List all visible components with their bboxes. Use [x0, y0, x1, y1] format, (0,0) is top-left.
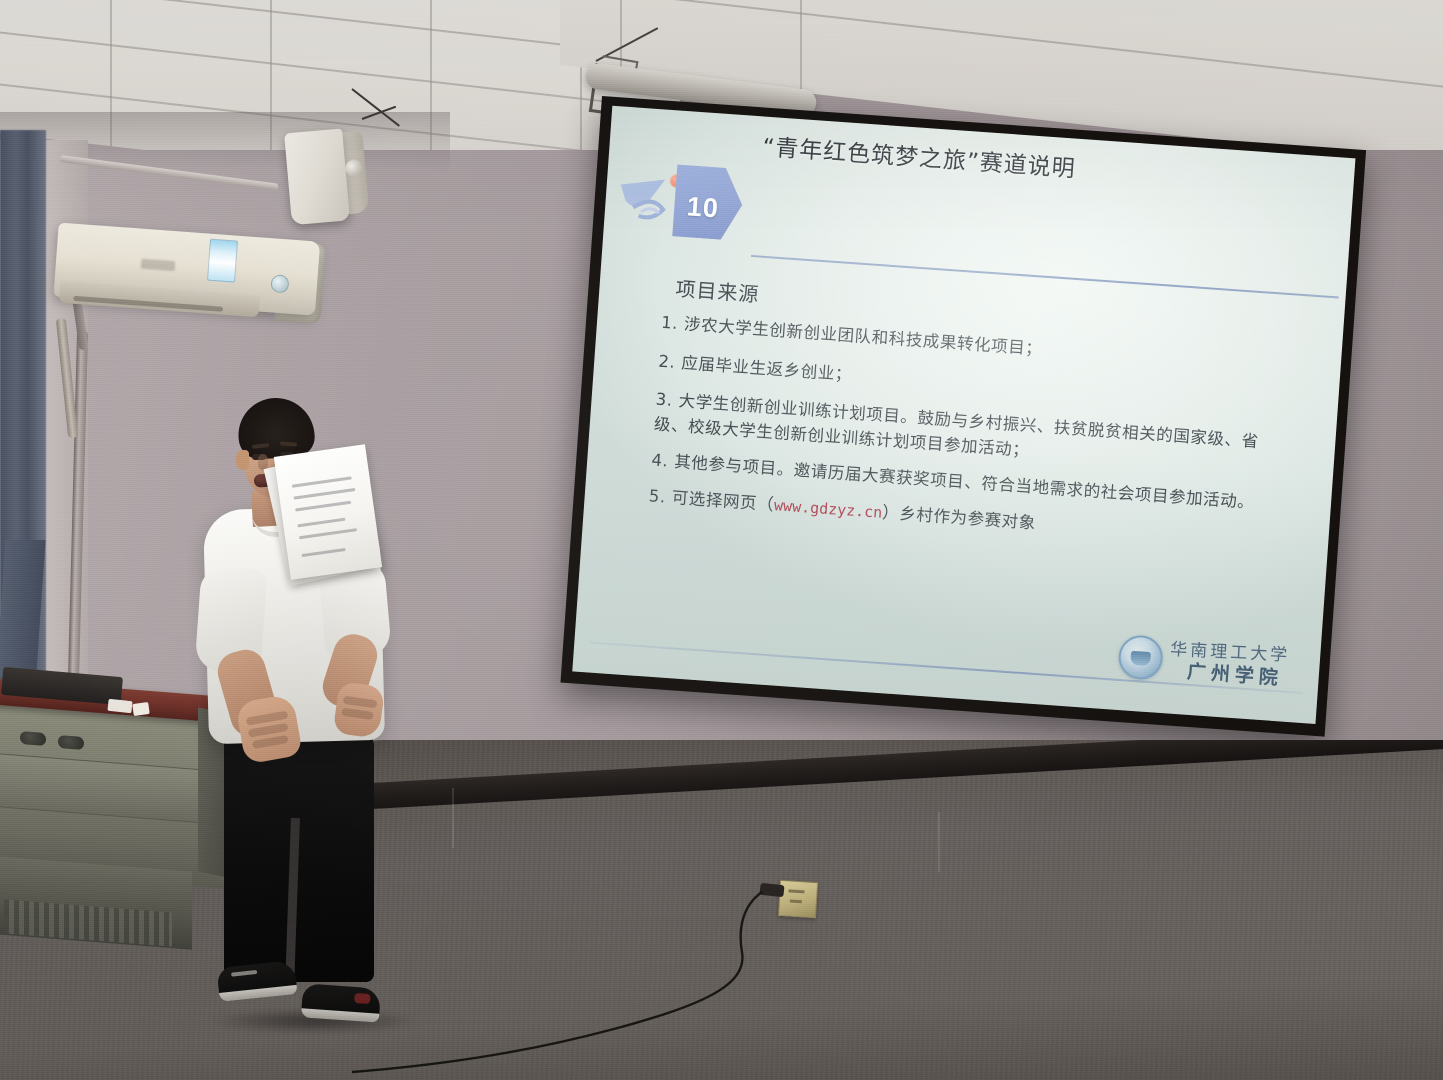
list-item-text: 应届毕业生返乡创业； — [681, 353, 853, 384]
list-item-index: 3. — [655, 390, 673, 410]
list-item-index: 1. — [661, 313, 679, 333]
lectern-paper — [132, 702, 150, 716]
floor-seam — [938, 812, 940, 872]
slide-title: “青年红色筑梦之旅”赛道说明 — [761, 128, 1076, 184]
finger — [341, 708, 374, 720]
shoe-sole — [301, 1008, 379, 1022]
floor-seam — [452, 788, 454, 848]
shoe-lace — [231, 970, 257, 977]
university-seal-icon — [1117, 634, 1164, 681]
lectern-cable-hole — [20, 731, 46, 746]
bullet-list: 1.涉农大学生创新创业团队和科技成果转化项目； 2.应届毕业生返乡创业； 3.大… — [647, 311, 1286, 567]
slide-number-badge: 10 — [672, 164, 745, 241]
handout-text-line — [294, 488, 356, 500]
slide-number: 10 — [686, 192, 720, 225]
presenter-pants — [224, 730, 374, 982]
presenter-shoe-left — [216, 960, 297, 1002]
photo-scene: 10 “青年红色筑梦之旅”赛道说明 项目来源 1.涉农大学生创新创业团队和科技成… — [0, 0, 1443, 1080]
list-item-text-after: ）乡村作为参赛对象 — [882, 503, 1037, 533]
finger — [343, 696, 378, 709]
section-heading: 项目来源 — [675, 272, 761, 307]
shoe-accent — [354, 993, 371, 1004]
handout-text-line — [297, 518, 345, 528]
projection-screen: 10 “青年红色筑梦之旅”赛道说明 项目来源 1.涉农大学生创新创业团队和科技成… — [560, 96, 1366, 737]
handout-text-line — [302, 548, 346, 557]
energy-label-sticker — [207, 239, 238, 283]
outlet-slot — [790, 900, 802, 904]
university-logo-text: 华南理工大学 广州学院 — [1168, 641, 1291, 690]
handout-text-line — [295, 501, 351, 512]
lectern-paper — [107, 699, 132, 713]
air-conditioner — [52, 223, 320, 338]
lectern-cable-hole — [58, 735, 84, 750]
presenter-ear — [236, 450, 249, 470]
wall-speaker-face — [284, 129, 350, 226]
shoe-sole — [219, 985, 298, 1002]
list-item-text-before: 可选择网页（ — [671, 488, 775, 514]
title-divider — [751, 255, 1338, 299]
presenter-shoe-right — [301, 983, 381, 1022]
finger — [252, 735, 289, 749]
wall-speaker — [284, 127, 370, 225]
website-link[interactable]: www.gdzyz.cn — [773, 497, 882, 523]
presenter — [196, 398, 406, 1058]
power-plug[interactable] — [759, 883, 784, 897]
presentation-slide: 10 “青年红色筑梦之旅”赛道说明 项目来源 1.涉农大学生创新创业团队和科技成… — [572, 106, 1355, 724]
list-item-index: 2. — [658, 351, 676, 371]
list-item-index: 4. — [651, 450, 669, 470]
list-item-index: 5. — [648, 487, 666, 507]
handout-sheet — [274, 444, 382, 580]
handout-text-line — [292, 476, 352, 487]
outlet-slot — [788, 889, 804, 893]
list-item-text: 涉农大学生创新创业团队和科技成果转化项目； — [683, 315, 1043, 359]
handout-text-line — [299, 528, 357, 539]
